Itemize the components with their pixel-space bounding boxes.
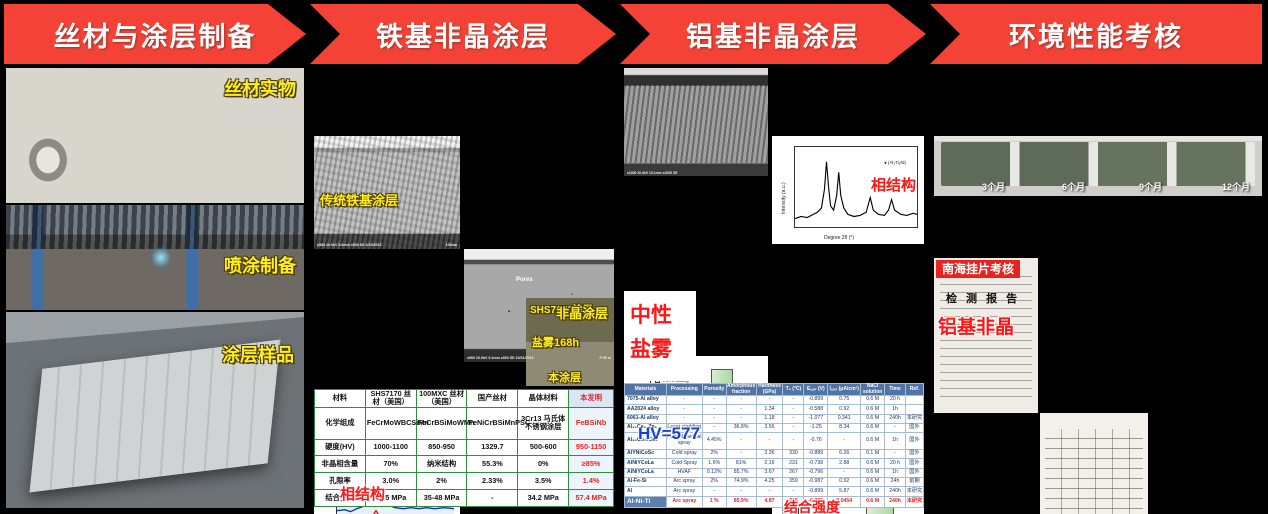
report-title-left: 检 测 报 告: [946, 294, 1020, 305]
td-lit-0-2: -: [702, 396, 726, 405]
td-lit-8-9: 24h: [885, 478, 906, 487]
td-lit-7-1: HVAF: [666, 468, 702, 477]
chart-label-phase-structure-fe: 相结构: [340, 487, 385, 502]
td-lit-3-2: -: [702, 423, 726, 432]
td-lit-7-10: 国外: [905, 468, 923, 477]
xrd-al-ylabel: Intensity (a.u.): [781, 182, 787, 214]
td-0-2: FeNiCrBSiMnPSC: [467, 407, 518, 439]
table-header-row: 材料 SHS7170 丝材（美国） 100MXC 丝材（美国） 国产丝材 晶体材…: [315, 390, 614, 408]
banner-label-1: 丝材与涂层制备: [54, 15, 257, 54]
td-lit-1-1: -: [666, 405, 702, 414]
td-lit-7-2: 0.12%: [702, 468, 726, 477]
table-row: 硬度(HV) 1000-1100 850-950 1329.7 500-600 …: [315, 439, 614, 456]
td-lit-8-7: 0.92: [828, 478, 861, 487]
th3-ref: Ref.: [905, 384, 923, 396]
td-4-1: 35-48 MPa: [416, 490, 467, 507]
td-lit-3-3: 36.8%: [726, 423, 756, 432]
td-lit-6-3: 81%: [726, 459, 756, 468]
td-lit-9-3: -: [726, 487, 756, 496]
coupon-month-label-6: 6个月: [1062, 183, 1085, 192]
td-lit-2-0: 6061-Al alloy: [625, 414, 667, 423]
td-row-label-0: 化学组成: [315, 407, 366, 439]
th3-tg: T₉ (°C): [783, 384, 804, 396]
td-4-2: -: [467, 490, 518, 507]
td-lit-9-2: -: [702, 487, 726, 496]
td-lit-2-7: 0.341: [828, 414, 861, 423]
th3-ecorr: E꜀ₒᵣᵣ (V): [804, 384, 828, 396]
td-lit-4-4: -: [756, 433, 783, 450]
td-3-2: 2.33%: [467, 473, 518, 490]
banner-label-4: 环境性能考核: [1009, 15, 1183, 54]
banner-label-2: 铁基非晶涂层: [376, 15, 550, 54]
td-lit-10-10: 本研究: [905, 496, 923, 507]
td-lit-1-8: 0.6 M: [861, 405, 885, 414]
td-lit-5-2: 2%: [702, 450, 726, 459]
table-row: 7075-Al alloy------0.8990.750.6 M20 h: [625, 396, 924, 405]
td-lit-2-3: -: [726, 414, 756, 423]
chart-label-phase-structure-al: 相结构: [871, 178, 916, 193]
td-lit-6-4: 2.16: [756, 459, 783, 468]
photo-exposure-coupons: 3个月 6个月 9个月 12个月: [934, 136, 1262, 196]
chart-xrd-al: 相结构 ● (Al₃Ti₂Ni) Degree 2θ (°) Intensity…: [772, 136, 924, 244]
td-lit-7-0: AlNiYCoLa: [625, 468, 667, 477]
th3-materials: Materials: [625, 384, 667, 396]
td-lit-3-9: -: [885, 423, 906, 432]
td-0-0: FeCrMoWBCSiMn: [365, 407, 416, 439]
td-lit-7-5: 267: [783, 468, 804, 477]
td-lit-2-9: 240h: [885, 414, 906, 423]
td-row-label-1: 硬度(HV): [315, 439, 366, 456]
td-lit-8-1: Arc spray: [666, 478, 702, 487]
th-domestic: 国产丝材: [467, 390, 518, 408]
td-0-3: 3Cr13 马氏体不锈钢涂层: [518, 407, 569, 439]
td-3-1: 2%: [416, 473, 467, 490]
td-lit-2-8: 0.6 M: [861, 414, 885, 423]
td-lit-5-1: Cold spray: [666, 450, 702, 459]
td-lit-0-0: 7075-Al alloy: [625, 396, 667, 405]
td-lit-3-6: -1.25: [804, 423, 828, 432]
td-lit-0-5: -: [783, 396, 804, 405]
td-lit-8-3: 74.9%: [726, 478, 756, 487]
td-2-0: 70%: [365, 456, 416, 473]
sem-caption-al: x1000 20.0kV 10.1mm x1000 SE: [627, 172, 678, 175]
td-2-3: 0%: [518, 456, 569, 473]
banner-column-3: 铝基非晶涂层: [620, 4, 926, 64]
td-1-3: 500-600: [518, 439, 569, 456]
td-lit-7-8: 0.6 M: [861, 468, 885, 477]
td-lit-9-0: Al: [625, 487, 667, 496]
td-lit-1-5: -: [783, 405, 804, 414]
td-lit-1-6: -0.588: [804, 405, 828, 414]
saltspray-label-bottom: 本涂层: [548, 373, 581, 384]
xrd-al-annotation: ● (Al₃Ti₂Ni): [884, 160, 906, 165]
td-lit-4-6: -0.76: [804, 433, 828, 450]
table-row: Al-Fe-SiArc spray2%74.9%4.25359-0.9870.9…: [625, 478, 924, 487]
td-1-0: 1000-1100: [365, 439, 416, 456]
photo-wire-spools: 丝材实物: [6, 68, 304, 203]
saltspray-label-middle: 盐雾168h: [532, 338, 579, 349]
table-row: AlNiYCoLaHVAF0.12%85.7%3.67267-0.796-0.6…: [625, 468, 924, 477]
td-lit-6-10: 国外: [905, 459, 923, 468]
report-document-left: 南海挂片考核 检 测 报 告 铝基非晶: [934, 258, 1038, 413]
td-lit-4-8: 0.6 M: [861, 433, 885, 450]
photo-caption-coated-panel: 涂层样品: [222, 346, 294, 364]
td-4-4: 57.4 MPa: [569, 490, 614, 507]
td-2-2: 55.3%: [467, 456, 518, 473]
td-lit-4-3: -: [726, 433, 756, 450]
td-lit-10-9: 240h: [885, 496, 906, 507]
th3-time: Time: [885, 384, 906, 396]
td-lit-7-4: 3.67: [756, 468, 783, 477]
td-lit-5-7: 6.26: [828, 450, 861, 459]
coupon-month-label-3: 3个月: [982, 183, 1005, 192]
chip-nanhai-exposure: 南海挂片考核: [936, 260, 1020, 278]
sem-annotation-pores: Pores: [516, 277, 533, 283]
photo-caption-wire-spools: 丝材实物: [224, 80, 296, 98]
td-lit-0-9: 20 h: [885, 396, 906, 405]
td-lit-10-2: 1 %: [702, 496, 726, 507]
td-lit-3-4: 3.56: [756, 423, 783, 432]
banner-column-1: 丝材与涂层制备: [4, 4, 306, 64]
td-lit-8-6: -0.987: [804, 478, 828, 487]
td-lit-5-3: -: [726, 450, 756, 459]
sem-scalebar-value-right: P 50 m: [599, 357, 611, 361]
saltspray-label-line2: 盐雾: [630, 339, 672, 360]
table-row: 非晶相含量 70% 纳米结构 55.3% 0% ≥85%: [315, 456, 614, 473]
td-lit-8-10: 前期: [905, 478, 923, 487]
td-lit-4-10: 国外: [905, 433, 923, 450]
td-lit-9-8: 0.6 M: [861, 487, 885, 496]
photo-coated-panel: 涂层样品: [6, 312, 304, 508]
td-lit-1-3: -: [726, 405, 756, 414]
banner-column-4: 环境性能考核: [930, 4, 1262, 64]
table-row: AlNiYCoLaCold Spray1.6%81%2.16231-0.7382…: [625, 459, 924, 468]
td-lit-7-9: 1h: [885, 468, 906, 477]
td-2-4: ≥85%: [569, 456, 614, 473]
td-lit-0-8: 0.6 M: [861, 396, 885, 405]
td-1-2: 1329.7: [467, 439, 518, 456]
table-row: Al-Ni-TiArc spray1 %85.9%4.87365-0.7250.…: [625, 496, 924, 507]
literature-table-body: 7075-Al alloy------0.8990.750.6 M20 hAA2…: [625, 396, 924, 508]
td-lit-6-6: -0.738: [804, 459, 828, 468]
td-lit-9-6: -0.899: [804, 487, 828, 496]
td-lit-8-5: 359: [783, 478, 804, 487]
td-lit-9-7: 5.87: [828, 487, 861, 496]
literature-table: Materials Processing Porosity Amorphous …: [624, 383, 924, 508]
td-lit-1-10: [905, 405, 923, 414]
td-lit-9-4: -: [756, 487, 783, 496]
td-lit-2-5: -: [783, 414, 804, 423]
td-lit-3-7: 8.34: [828, 423, 861, 432]
td-3-3: 3.5%: [518, 473, 569, 490]
td-lit-6-7: 2.88: [828, 459, 861, 468]
table-header-row: Materials Processing Porosity Amorphous …: [625, 384, 924, 396]
column-fe-based-amorphous-coating: 铁基非晶涂层 传统铁基涂层 x500 20.0kV 8.6mm x500 SE …: [310, 0, 620, 514]
td-lit-1-9: 1h: [885, 405, 906, 414]
td-lit-0-3: -: [726, 396, 756, 405]
table-row: 6061-Al alloy---1.18--1.0770.3410.6 M240…: [625, 414, 924, 423]
td-lit-3-5: -: [783, 423, 804, 432]
td-1-4: 950-1150: [569, 439, 614, 456]
td-lit-2-1: -: [666, 414, 702, 423]
td-lit-5-9: -: [885, 450, 906, 459]
saltspray-label-line1: 中性: [630, 305, 672, 326]
td-lit-1-7: 0.92: [828, 405, 861, 414]
td-1-1: 850-950: [416, 439, 467, 456]
td-lit-7-7: -: [828, 468, 861, 477]
td-lit-9-10: 本研究: [905, 487, 923, 496]
td-lit-1-2: -: [702, 405, 726, 414]
td-lit-6-1: Cold Spray: [666, 459, 702, 468]
td-lit-6-5: 231: [783, 459, 804, 468]
td-lit-4-7: -: [828, 433, 861, 450]
sem-label-amorphous: 非晶涂层: [556, 307, 608, 320]
poster-root: 丝材与涂层制备 丝材实物 喷涂制备 涂层样品 铁基非晶涂层 传统铁基涂层 x50…: [0, 0, 1268, 514]
sem-image-al-coating: x1000 20.0kV 10.1mm x1000 SE: [624, 68, 768, 176]
td-lit-10-0: Al-Ni-Ti: [625, 496, 667, 507]
td-lit-0-7: 0.75: [828, 396, 861, 405]
coupon-month-label-12: 12个月: [1222, 183, 1250, 192]
td-row-label-2: 非晶相含量: [315, 456, 366, 473]
td-lit-2-4: 1.18: [756, 414, 783, 423]
xrd-al-xlabel: Degree 2θ (°): [824, 235, 854, 241]
td-lit-9-9: 240h: [885, 487, 906, 496]
th-shs7170: SHS7170 丝材（美国）: [365, 390, 416, 408]
td-lit-4-9: 1h: [885, 433, 906, 450]
td-lit-4-5: -: [783, 433, 804, 450]
td-0-4: FeBSiNb: [569, 407, 614, 439]
th-100mxc: 100MXC 丝材（美国）: [416, 390, 467, 408]
td-4-3: 34.2 MPa: [518, 490, 569, 507]
td-lit-6-8: 0.6 M: [861, 459, 885, 468]
th3-processing: Processing: [666, 384, 702, 396]
td-2-1: 纳米结构: [416, 456, 467, 473]
td-0-1: FeCrBSiMoWMn: [416, 407, 467, 439]
sem-scalebar-text-left: x500 20.0kV 8.6mm x500 SE 3/15/2013: [317, 244, 382, 248]
td-lit-9-1: Arc spray: [666, 487, 702, 496]
td-lit-5-8: 0.1 M: [861, 450, 885, 459]
th3-nacl: NaCl solution: [861, 384, 885, 396]
td-lit-8-4: 4.25: [756, 478, 783, 487]
th-invention: 本发明: [569, 390, 614, 408]
photo-spray-deposition: 喷涂制备: [6, 205, 304, 310]
th3-amorphous: Amorphous fraction: [726, 384, 756, 396]
td-lit-1-4: 1.34: [756, 405, 783, 414]
td-lit-6-2: 1.6%: [702, 459, 726, 468]
td-lit-5-0: AlYNiCoSc: [625, 450, 667, 459]
td-lit-5-5: 330: [783, 450, 804, 459]
td-lit-6-0: AlNiYCoLa: [625, 459, 667, 468]
saltspray-title-block: 中性 盐雾: [624, 291, 696, 381]
td-lit-2-10: 本研究: [905, 414, 923, 423]
chart-value-hv577: HV=577: [638, 425, 700, 442]
th3-icorr: I꜀ₒᵣᵣ (μA/cm²): [828, 384, 861, 396]
td-lit-5-10: 国外: [905, 450, 923, 459]
coupon-month-label-9: 9个月: [1139, 183, 1162, 192]
sem-image-conventional: 传统铁基涂层 x500 20.0kV 8.6mm x500 SE 3/15/20…: [314, 136, 460, 249]
td-lit-8-2: 2%: [702, 478, 726, 487]
td-lit-0-4: -: [756, 396, 783, 405]
table-row: AA2024 alloy---1.34--0.5880.920.6 M1h: [625, 405, 924, 414]
td-lit-3-10: 国外: [905, 423, 923, 432]
td-lit-10-1: Arc spray: [666, 496, 702, 507]
th-material: 材料: [315, 390, 366, 408]
td-lit-10-4: 4.87: [756, 496, 783, 507]
td-lit-5-4: 3.36: [756, 450, 783, 459]
chip-al-amorphous: 铝基非晶: [938, 318, 1014, 337]
td-lit-4-2: 4.45%: [702, 433, 726, 450]
chart-label-bond-strength: 结合强度: [784, 500, 840, 514]
table-row: AlArc spray-----0.8995.870.6 M240h本研究: [625, 487, 924, 496]
report-document-middle: [1040, 413, 1148, 514]
td-lit-6-9: 20 h: [885, 459, 906, 468]
column-environmental-performance-assessment: 环境性能考核 3个月 6个月 9个月 12个月 南海挂片考核 检 测 报 告 铝…: [930, 0, 1268, 514]
sem-scalebar-text-right: x500 20.0kV 9.1mm x500 SE 10/31/2013: [467, 357, 534, 361]
td-lit-3-8: 0.6 M: [861, 423, 885, 432]
photo-caption-spray-deposition: 喷涂制备: [224, 257, 296, 275]
td-3-4: 1.4%: [569, 473, 614, 490]
td-lit-8-8: 0.6 M: [861, 478, 885, 487]
table-row: 化学组成 FeCrMoWBCSiMn FeCrBSiMoWMn FeNiCrBS…: [315, 407, 614, 439]
td-lit-9-5: -: [783, 487, 804, 496]
td-lit-8-0: Al-Fe-Si: [625, 478, 667, 487]
th-crystalline: 晶体材料: [518, 390, 569, 408]
column-wire-and-coating-preparation: 丝材与涂层制备 丝材实物 喷涂制备 涂层样品: [0, 0, 310, 514]
td-lit-0-1: -: [666, 396, 702, 405]
td-lit-1-0: AA2024 alloy: [625, 405, 667, 414]
td-lit-10-8: 0.6 M: [861, 496, 885, 507]
table-literature-comparison: Materials Processing Porosity Amorphous …: [624, 383, 924, 508]
td-lit-7-6: -0.796: [804, 468, 828, 477]
table-row: AlYNiCoScCold spray2%-3.36330-0.8896.260…: [625, 450, 924, 459]
td-lit-0-6: -0.899: [804, 396, 828, 405]
td-lit-7-3: 85.7%: [726, 468, 756, 477]
th3-porosity: Porosity: [702, 384, 726, 396]
th3-hardness: Hardness (GPa): [756, 384, 783, 396]
td-lit-10-3: 85.9%: [726, 496, 756, 507]
td-lit-0-10: [905, 396, 923, 405]
td-lit-5-6: -0.889: [804, 450, 828, 459]
banner-label-3: 铝基非晶涂层: [686, 15, 860, 54]
td-lit-2-6: -1.077: [804, 414, 828, 423]
sem-scalebar-value-left: 100um: [446, 244, 457, 248]
column-al-based-amorphous-coating: 铝基非晶涂层 x1000 20.0kV 10.1mm x1000 SE 相结构 …: [620, 0, 930, 514]
td-lit-2-2: -: [702, 414, 726, 423]
banner-column-2: 铁基非晶涂层: [310, 4, 616, 64]
sem-label-conventional: 传统铁基涂层: [320, 194, 398, 207]
